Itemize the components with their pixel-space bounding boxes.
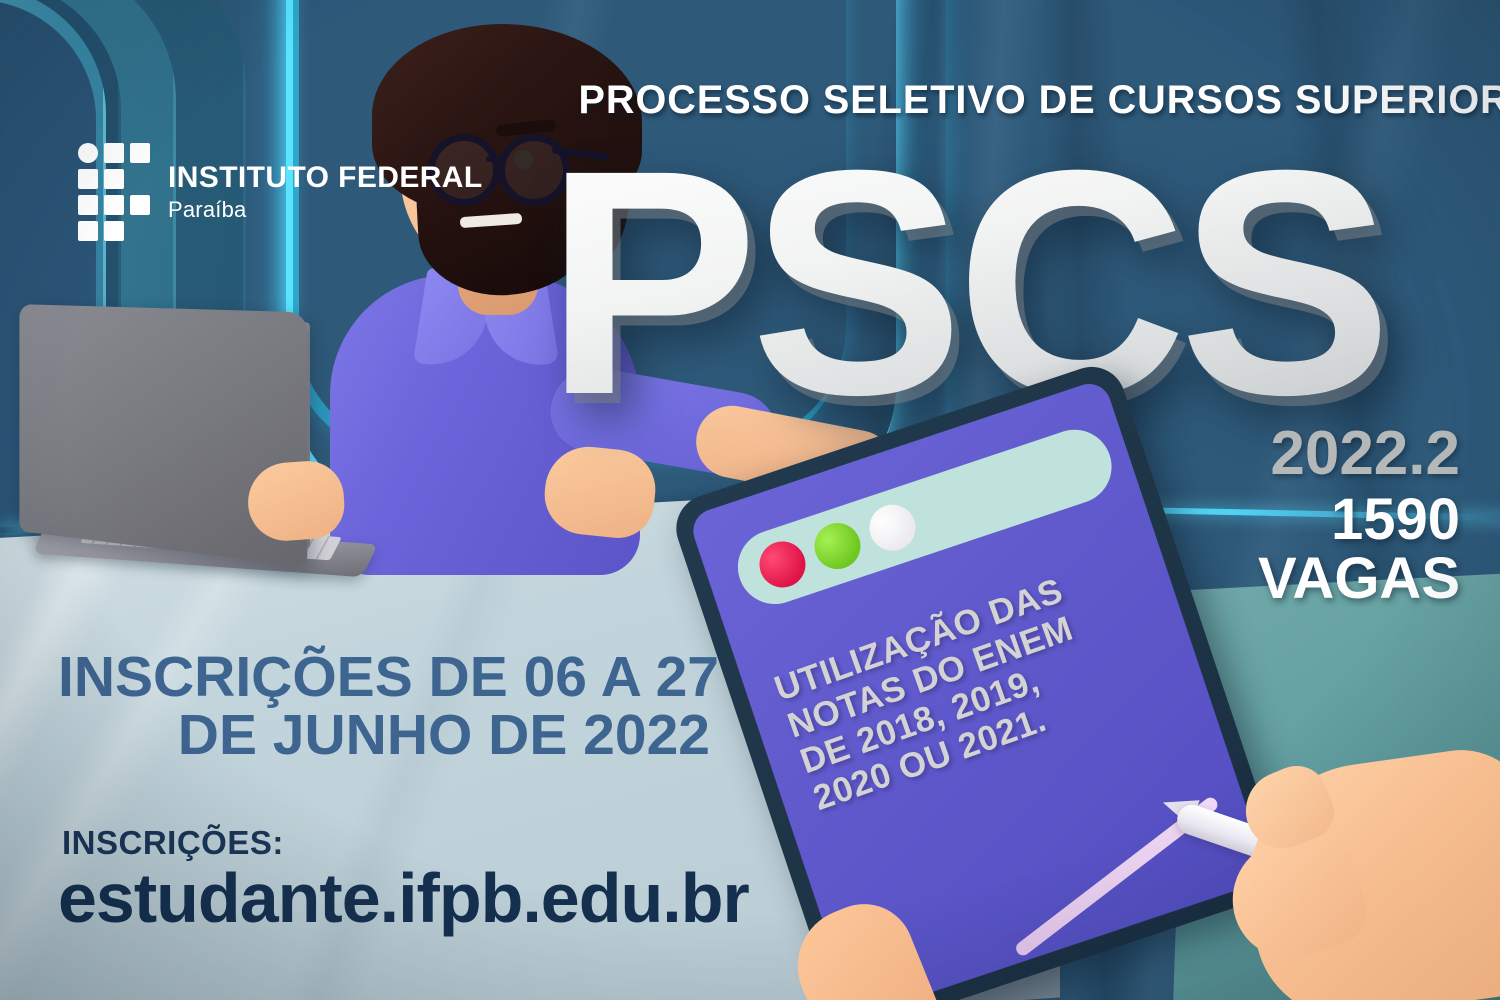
poster-canvas: INSTITUTO FEDERAL Paraíba PROCESSO SELET… — [0, 0, 1500, 1000]
